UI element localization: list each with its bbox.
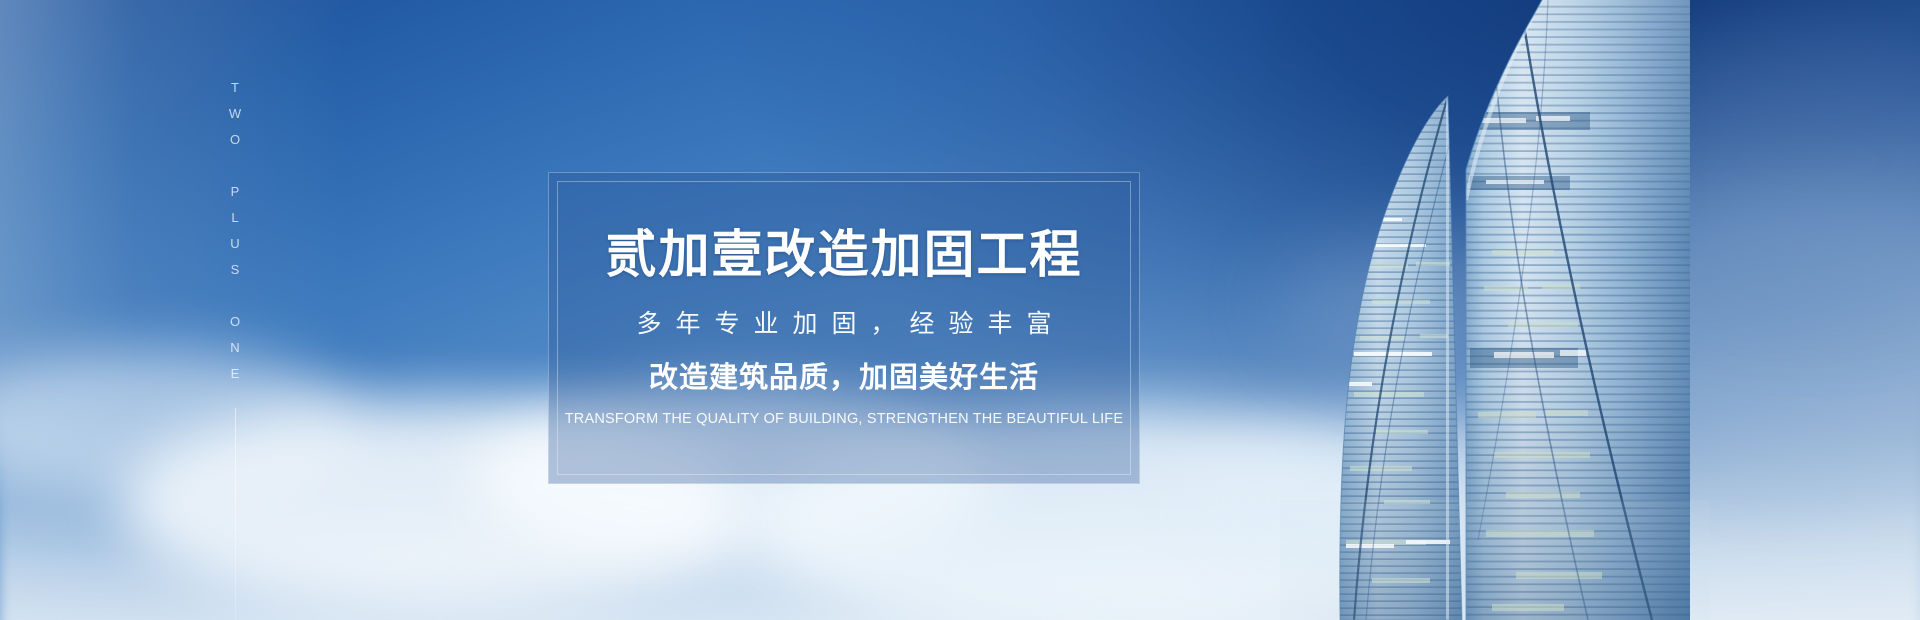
brand-vertical-rule <box>235 408 236 620</box>
brand-vertical-label: TWO PLUS ONE <box>229 80 242 392</box>
skyscrapers-image <box>1280 0 1920 620</box>
brand-vertical: TWO PLUS ONE 1 <box>222 80 248 620</box>
hero-subline: 多年专业加固，经验丰富 <box>622 312 1065 337</box>
hero-text-panel: 贰加壹改造加固工程 多年专业加固，经验丰富 改造建筑品质，加固美好生活 TRAN… <box>548 172 1140 484</box>
hero-headline: 贰加壹改造加固工程 <box>605 229 1082 280</box>
hero-tagline: 改造建筑品质，加固美好生活 <box>649 364 1039 393</box>
hero-english-line: TRANSFORM THE QUALITY OF BUILDING, STREN… <box>565 412 1124 427</box>
hero-text-panel-inner: 贰加壹改造加固工程 多年专业加固，经验丰富 改造建筑品质，加固美好生活 TRAN… <box>557 181 1131 475</box>
hero-banner: TWO PLUS ONE 1 贰加壹改造加固工程 多年专业加固，经验丰富 改造建… <box>0 0 1920 620</box>
